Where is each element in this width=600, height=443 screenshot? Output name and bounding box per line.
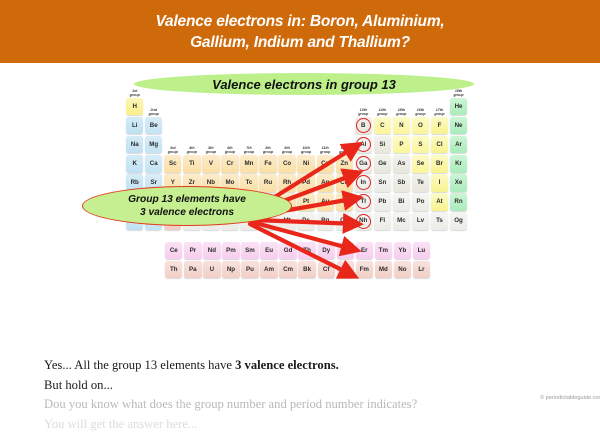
element-cell-pd[interactable]: Pd [297,174,314,191]
element-cell-po[interactable]: Po [412,193,429,210]
prose-line-3: Dou you know what does the group number … [44,395,584,415]
element-cell-k[interactable]: K [126,155,143,172]
group-label-10: 10th group [297,146,315,155]
element-cell-ga[interactable]: Ga [355,155,372,172]
element-cell-te[interactable]: Te [412,174,429,191]
element-cell-fm[interactable]: Fm [356,261,373,278]
group-label-11: 11th group [316,146,334,155]
element-cell-es[interactable]: Es [337,261,354,278]
prose-line-1-plain: Yes... All the group 13 elements have [44,358,235,372]
element-cell-np[interactable]: Np [222,261,239,278]
element-cell-th[interactable]: Th [165,261,182,278]
element-cell-be[interactable]: Be [145,117,162,134]
element-cell-cd[interactable]: Cd [336,174,353,191]
element-cell-tb[interactable]: Tb [298,242,315,259]
element-cell-fl[interactable]: Fl [374,212,391,229]
element-cell-cf[interactable]: Cf [318,261,335,278]
element-cell-f[interactable]: F [431,117,448,134]
element-cell-cr[interactable]: Cr [221,155,238,172]
group-label-13: 13th group [354,108,372,117]
group-label-3: 3rd group [164,146,182,155]
element-cell-v[interactable]: V [202,155,219,172]
element-cell-bi[interactable]: Bi [393,193,410,210]
element-cell-pt[interactable]: Pt [297,193,314,210]
prose-line-4: You will get the answer here... [44,415,584,435]
element-cell-mg[interactable]: Mg [145,136,162,153]
element-cell-ru[interactable]: Ru [259,174,276,191]
element-cell-as[interactable]: As [393,155,410,172]
element-cell-sc[interactable]: Sc [164,155,181,172]
group-label-2: 2nd group [145,108,163,117]
callout-line-2: 3 valence electrons [140,206,234,219]
group-label-15: 15th group [392,108,410,117]
element-cell-ag[interactable]: Ag [317,174,334,191]
element-cell-cn[interactable]: Cn [336,212,353,229]
element-cell-s[interactable]: S [412,136,429,153]
element-cell-se[interactable]: Se [412,155,429,172]
element-cell-sm[interactable]: Sm [241,242,258,259]
element-cell-o[interactable]: O [412,117,429,134]
element-cell-og[interactable]: Og [450,212,467,229]
header-title-line-2: Gallium, Indium and Thallium? [190,32,410,53]
figure-title-text: Valence electrons in group 13 [212,77,396,92]
element-cell-pb[interactable]: Pb [374,193,391,210]
element-cell-lr[interactable]: Lr [413,261,430,278]
prose-line-1: Yes... All the group 13 elements have 3 … [44,356,584,376]
callout-oval: Group 13 elements have 3 valence electro… [82,186,292,226]
figure-title-pill: Valence electrons in group 13 [134,73,474,95]
group-label-12: 12th group [335,146,353,155]
element-cell-nh[interactable]: Nh [355,212,372,229]
element-cell-ds[interactable]: Ds [297,212,314,229]
page-header-banner: Valence electrons in: Boron, Aluminium, … [0,0,600,63]
element-cell-rg[interactable]: Rg [317,212,334,229]
element-cell-pm[interactable]: Pm [222,242,239,259]
element-cell-er[interactable]: Er [356,242,373,259]
element-cell-sn[interactable]: Sn [374,174,391,191]
element-cell-mn[interactable]: Mn [240,155,257,172]
element-cell-he[interactable]: He [450,98,467,115]
element-cell-tl[interactable]: Tl [355,193,372,210]
element-cell-dy[interactable]: Dy [318,242,335,259]
group-label-18: 18th group [450,89,468,98]
element-cell-i[interactable]: I [431,174,448,191]
element-cell-no[interactable]: No [394,261,411,278]
element-cell-in[interactable]: In [355,174,372,191]
element-cell-u[interactable]: U [203,261,220,278]
group-label-9: 9th group [278,146,296,155]
element-cell-sb[interactable]: Sb [393,174,410,191]
element-cell-b[interactable]: B [355,117,372,134]
periodic-table-figure: Valence electrons in group 13 1st group2… [122,70,488,342]
element-cell-cm[interactable]: Cm [279,261,296,278]
element-cell-li[interactable]: Li [126,117,143,134]
prose-line-2: But hold on... [44,376,584,396]
group-label-17: 17th group [431,108,449,117]
element-cell-al[interactable]: Al [355,136,372,153]
group-label-8: 8th group [259,146,277,155]
element-cell-fe[interactable]: Fe [259,155,276,172]
element-cell-xe[interactable]: Xe [450,174,467,191]
element-cell-pr[interactable]: Pr [184,242,201,259]
element-cell-hg[interactable]: Hg [336,193,353,210]
callout-line-1: Group 13 elements have [128,193,246,206]
element-cell-ni[interactable]: Ni [297,155,314,172]
element-cell-n[interactable]: N [393,117,410,134]
group-label-14: 14th group [373,108,391,117]
group-label-4: 4th group [183,146,201,155]
element-cell-ar[interactable]: Ar [450,136,467,153]
element-cell-ge[interactable]: Ge [374,155,391,172]
element-cell-nd[interactable]: Nd [203,242,220,259]
element-cell-md[interactable]: Md [375,261,392,278]
element-cell-bk[interactable]: Bk [298,261,315,278]
group-label-16: 16th group [411,108,429,117]
element-cell-eu[interactable]: Eu [260,242,277,259]
group-label-6: 6th group [221,146,239,155]
element-cell-am[interactable]: Am [260,261,277,278]
prose-line-1-bold: 3 valence electrons. [235,358,339,372]
element-cell-pa[interactable]: Pa [184,261,201,278]
element-cell-ne[interactable]: Ne [450,117,467,134]
element-cell-si[interactable]: Si [374,136,391,153]
header-title-line-1: Valence electrons in: Boron, Aluminium, [155,11,444,32]
group-label-5: 5th group [202,146,220,155]
element-cell-pu[interactable]: Pu [241,261,258,278]
element-cell-cl[interactable]: Cl [431,136,448,153]
element-cell-at[interactable]: At [431,193,448,210]
element-cell-ti[interactable]: Ti [183,155,200,172]
explanatory-text-block: Yes... All the group 13 elements have 3 … [44,356,584,434]
element-cell-ca[interactable]: Ca [145,155,162,172]
element-cell-zn[interactable]: Zn [336,155,353,172]
element-cell-gd[interactable]: Gd [279,242,296,259]
element-cell-c[interactable]: C [374,117,391,134]
element-cell-ho[interactable]: Ho [337,242,354,259]
element-cell-p[interactable]: P [393,136,410,153]
element-cell-tm[interactable]: Tm [375,242,392,259]
group-label-1: 1st group [126,89,144,98]
element-cell-yb[interactable]: Yb [394,242,411,259]
element-cell-ts[interactable]: Ts [431,212,448,229]
element-cell-lv[interactable]: Lv [412,212,429,229]
element-cell-mc[interactable]: Mc [393,212,410,229]
element-cell-rn[interactable]: Rn [450,193,467,210]
element-cell-rh[interactable]: Rh [278,174,295,191]
element-cell-h[interactable]: H [126,98,143,115]
group-label-7: 7th group [240,146,258,155]
element-cell-cu[interactable]: Cu [317,155,334,172]
element-cell-ce[interactable]: Ce [165,242,182,259]
element-cell-au[interactable]: Au [317,193,334,210]
element-cell-lu[interactable]: Lu [413,242,430,259]
element-cell-kr[interactable]: Kr [450,155,467,172]
element-cell-co[interactable]: Co [278,155,295,172]
element-cell-na[interactable]: Na [126,136,143,153]
element-cell-br[interactable]: Br [431,155,448,172]
